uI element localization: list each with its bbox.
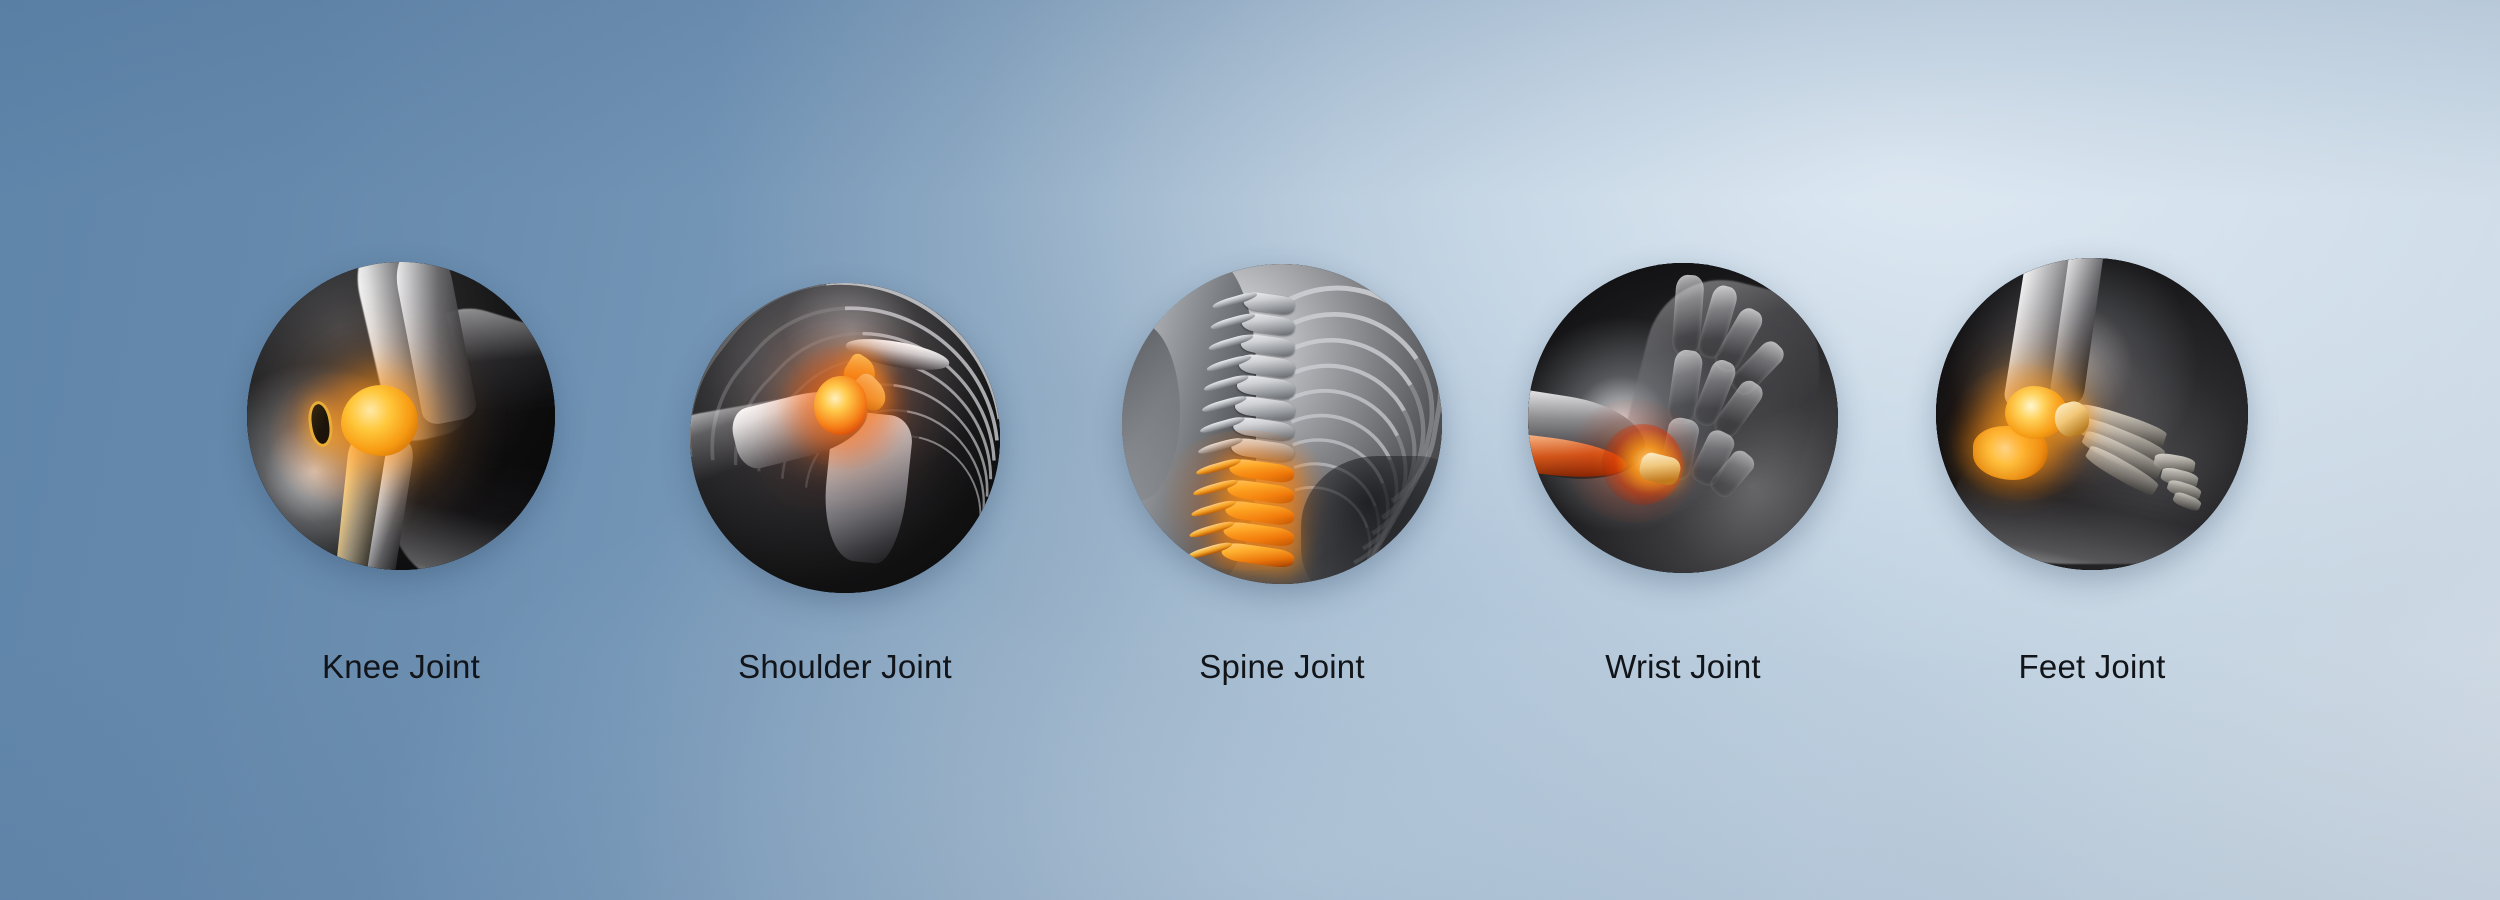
shoulder-inflamed-humeral-head: [814, 376, 867, 435]
illustration-stage: Knee Joint Shoulder Joint: [0, 0, 2500, 900]
joint-label-spine: Spine Joint: [1122, 648, 1442, 686]
joint-label-feet: Feet Joint: [1936, 648, 2248, 686]
joint-item-shoulder[interactable]: Shoulder Joint: [690, 283, 1000, 593]
joint-label-wrist: Wrist Joint: [1528, 648, 1838, 686]
knee-inflamed-condyle: [341, 385, 418, 456]
joint-label-knee: Knee Joint: [247, 648, 555, 686]
joint-icon-row: Knee Joint Shoulder Joint: [0, 0, 2500, 900]
shoulder-joint-icon[interactable]: [690, 283, 1000, 593]
feet-joint-icon[interactable]: [1936, 258, 2248, 570]
wrist-joint-icon[interactable]: [1528, 263, 1838, 573]
joint-item-wrist[interactable]: Wrist Joint: [1528, 263, 1838, 573]
knee-joint-icon[interactable]: [247, 262, 555, 570]
joint-label-shoulder: Shoulder Joint: [690, 648, 1000, 686]
joint-item-feet[interactable]: Feet Joint: [1936, 258, 2248, 570]
joint-item-knee[interactable]: Knee Joint: [247, 262, 555, 570]
spine-joint-icon[interactable]: [1122, 264, 1442, 584]
joint-item-spine[interactable]: Spine Joint: [1122, 264, 1442, 584]
